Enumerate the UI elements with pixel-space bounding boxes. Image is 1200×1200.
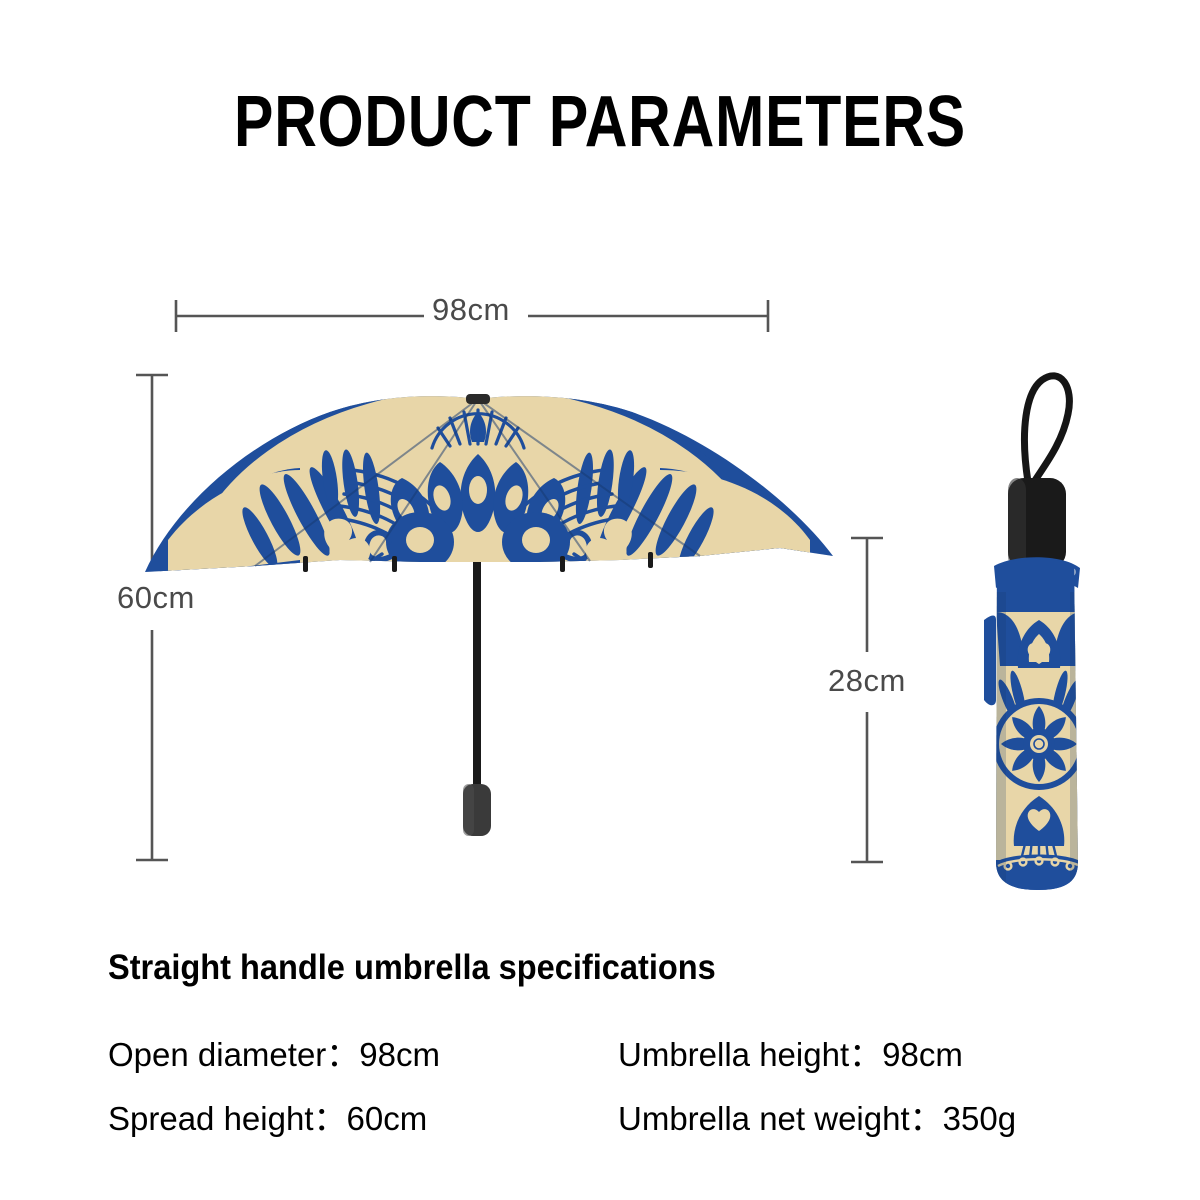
spec-row-umbrella-height: Umbrella height： 98cm (618, 1028, 963, 1076)
folded-side-flap (984, 616, 996, 706)
umbrella-grip (463, 784, 491, 836)
dimension-label-folded-length: 28cm (828, 663, 906, 699)
umbrella-diagram (0, 0, 1200, 930)
spec-label-net-weight: Umbrella net weight： (618, 1092, 943, 1140)
canopy-mandala-pattern (145, 385, 833, 815)
open-umbrella (145, 385, 833, 836)
spec-value-umbrella-height: 98cm (882, 1036, 963, 1074)
spec-label-open-diameter: Open diameter： (108, 1028, 359, 1076)
folded-length-dimension-line (851, 538, 883, 862)
folded-umbrella (984, 376, 1085, 892)
height-dimension-line (136, 375, 168, 860)
spec-row-net-weight: Umbrella net weight： 350g (618, 1092, 1016, 1140)
spec-row-spread-height: Spread height： 60cm (108, 1092, 427, 1140)
folded-mandala-pattern (993, 586, 1085, 892)
spec-label-umbrella-height: Umbrella height： (618, 1028, 882, 1076)
specifications-heading: Straight handle umbrella specifications (108, 948, 716, 988)
dimension-label-spread-height: 60cm (117, 580, 195, 616)
folded-handle (1008, 478, 1066, 568)
spec-row-open-diameter: Open diameter： 98cm (108, 1028, 440, 1076)
spec-value-open-diameter: 98cm (359, 1036, 440, 1074)
spec-label-spread-height: Spread height： (108, 1092, 347, 1140)
canopy-ferrule (466, 394, 490, 404)
product-parameters-infographic: PRODUCT PARAMETERS (0, 0, 1200, 1200)
wrist-strap (1024, 376, 1069, 482)
spec-value-net-weight: 350g (943, 1100, 1016, 1138)
umbrella-diagram-svg (0, 0, 1200, 930)
umbrella-shaft (473, 555, 481, 800)
spec-value-spread-height: 60cm (347, 1100, 428, 1138)
dimension-label-open-width: 98cm (432, 292, 510, 328)
